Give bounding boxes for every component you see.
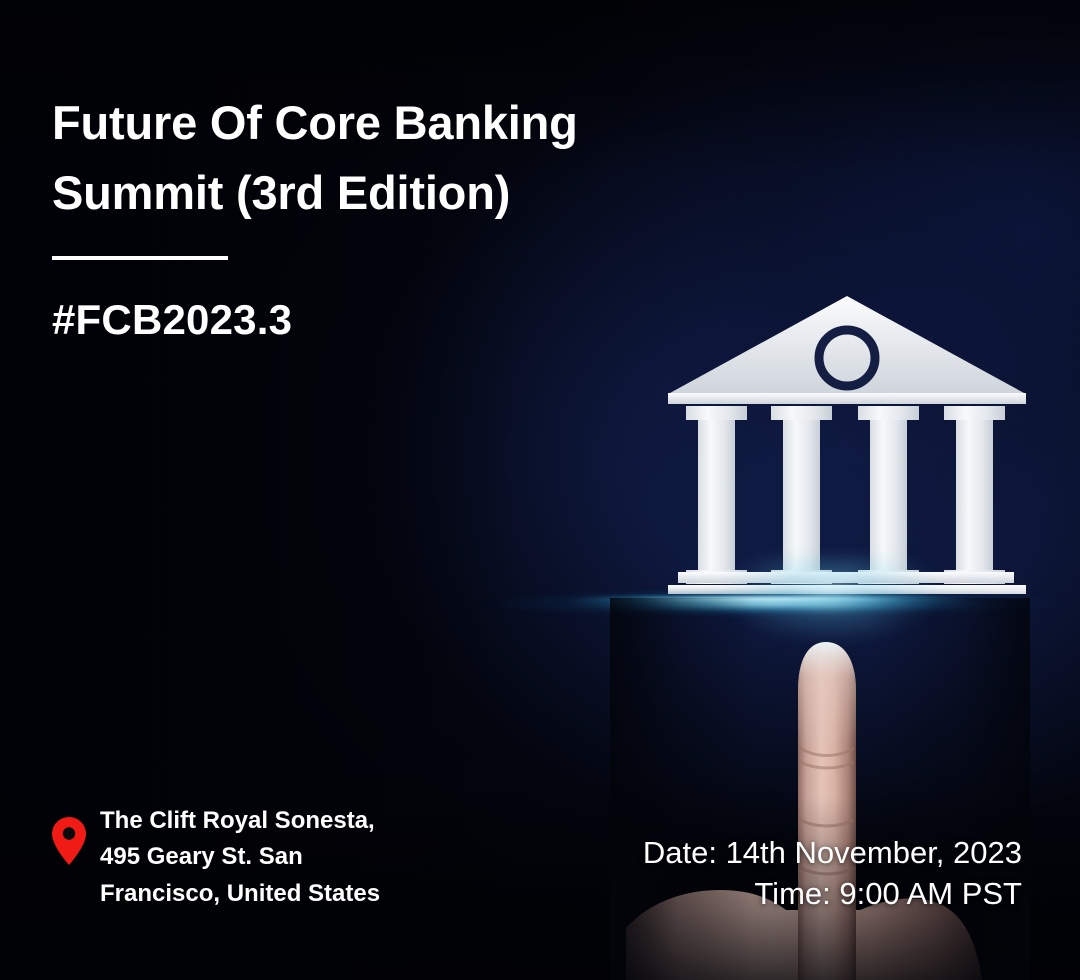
venue-address: The Clift Royal Sonesta, 495 Geary St. S… xyxy=(100,803,430,912)
event-schedule: Date: 14th November, 2023 Time: 9:00 AM … xyxy=(643,833,1022,915)
page-title: Future Of Core Banking Summit (3rd Editi… xyxy=(52,88,692,228)
title-divider xyxy=(52,256,228,260)
event-hashtag: #FCB2023.3 xyxy=(52,296,292,344)
event-time: Time: 9:00 AM PST xyxy=(643,874,1022,915)
map-pin-icon xyxy=(52,817,86,865)
venue-block: The Clift Royal Sonesta, 495 Geary St. S… xyxy=(52,803,430,912)
event-date: Date: 14th November, 2023 xyxy=(643,833,1022,874)
poster-canvas: Future Of Core Banking Summit (3rd Editi… xyxy=(0,0,1080,980)
bank-building-icon xyxy=(666,288,1028,594)
